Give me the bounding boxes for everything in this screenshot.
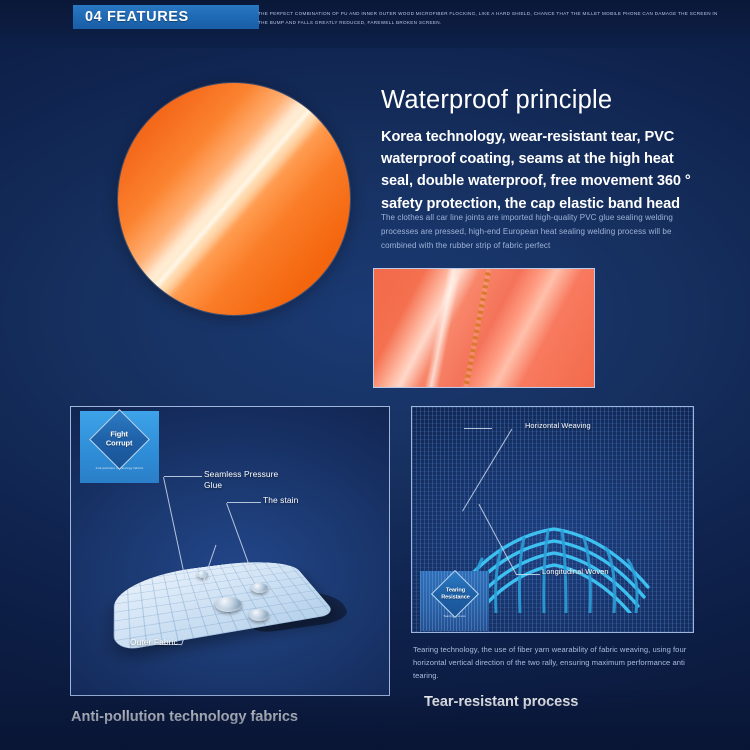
tear-resistant-panel: Tearing Resistance Tearing process Horiz… (411, 406, 694, 633)
waterproof-title: Waterproof principle (381, 86, 612, 115)
callout-longitudinal-woven: Longitudinal Woven (542, 567, 609, 577)
left-panel-caption: Anti-pollution technology fabrics (71, 709, 298, 725)
callout-the-stain: The stain (263, 495, 298, 506)
seam-stitch-line (461, 268, 495, 388)
infographic-page: 04 FEATURES THE PERFECT COMBINATION OF P… (0, 0, 750, 750)
leader-line-seamless-horizontal (164, 476, 202, 477)
leader-line-horizontal-weaving-h (464, 428, 492, 429)
features-tab: 04 FEATURES (73, 5, 259, 29)
tear-resistant-description: Tearing technology, the use of fiber yar… (413, 644, 689, 682)
header-description: THE PERFECT COMBINATION OF PU AND INNER … (258, 10, 718, 28)
badge-diamond-shape: Fight Corrupt (89, 409, 150, 470)
callout-seamless-pressure-glue: Seamless Pressure Glue (204, 469, 278, 491)
callout-outer-fabric: Outer Fabric (130, 637, 178, 648)
sealed-seam-photo (373, 268, 595, 388)
waterproof-sub-text: The clothes all car line joints are impo… (381, 211, 687, 252)
right-panel-caption: Tear-resistant process (424, 694, 578, 710)
badge-diamond-shape: Tearing Resistance (430, 570, 478, 618)
callout-horizontal-weaving: Horizontal Weaving (525, 421, 591, 431)
orange-fabric-circle-photo (118, 83, 350, 315)
header-bar: 04 FEATURES THE PERFECT COMBINATION OF P… (0, 0, 750, 48)
fight-corrupt-badge-title: Fight Corrupt (106, 431, 132, 448)
tearing-resistance-badge-title: Tearing Resistance (440, 587, 469, 600)
water-droplet (215, 597, 242, 612)
features-tab-label: 04 FEATURES (85, 9, 189, 25)
waterproof-body-text: Korea technology, wear-resistant tear, P… (381, 126, 701, 215)
fabric-sheet-illustration (99, 525, 349, 675)
anti-pollution-panel: Fight Corrupt Anti-pollution technology … (70, 406, 390, 696)
water-droplet (249, 609, 269, 621)
tearing-resistance-badge: Tearing Resistance Tearing process (420, 571, 489, 631)
water-droplet (251, 583, 268, 593)
fight-corrupt-badge: Fight Corrupt Anti-pollution technology … (80, 411, 159, 483)
leader-line-longitudinal-h (516, 574, 540, 575)
seam-highlight (421, 268, 464, 388)
leader-line-stain-horizontal (227, 502, 261, 503)
